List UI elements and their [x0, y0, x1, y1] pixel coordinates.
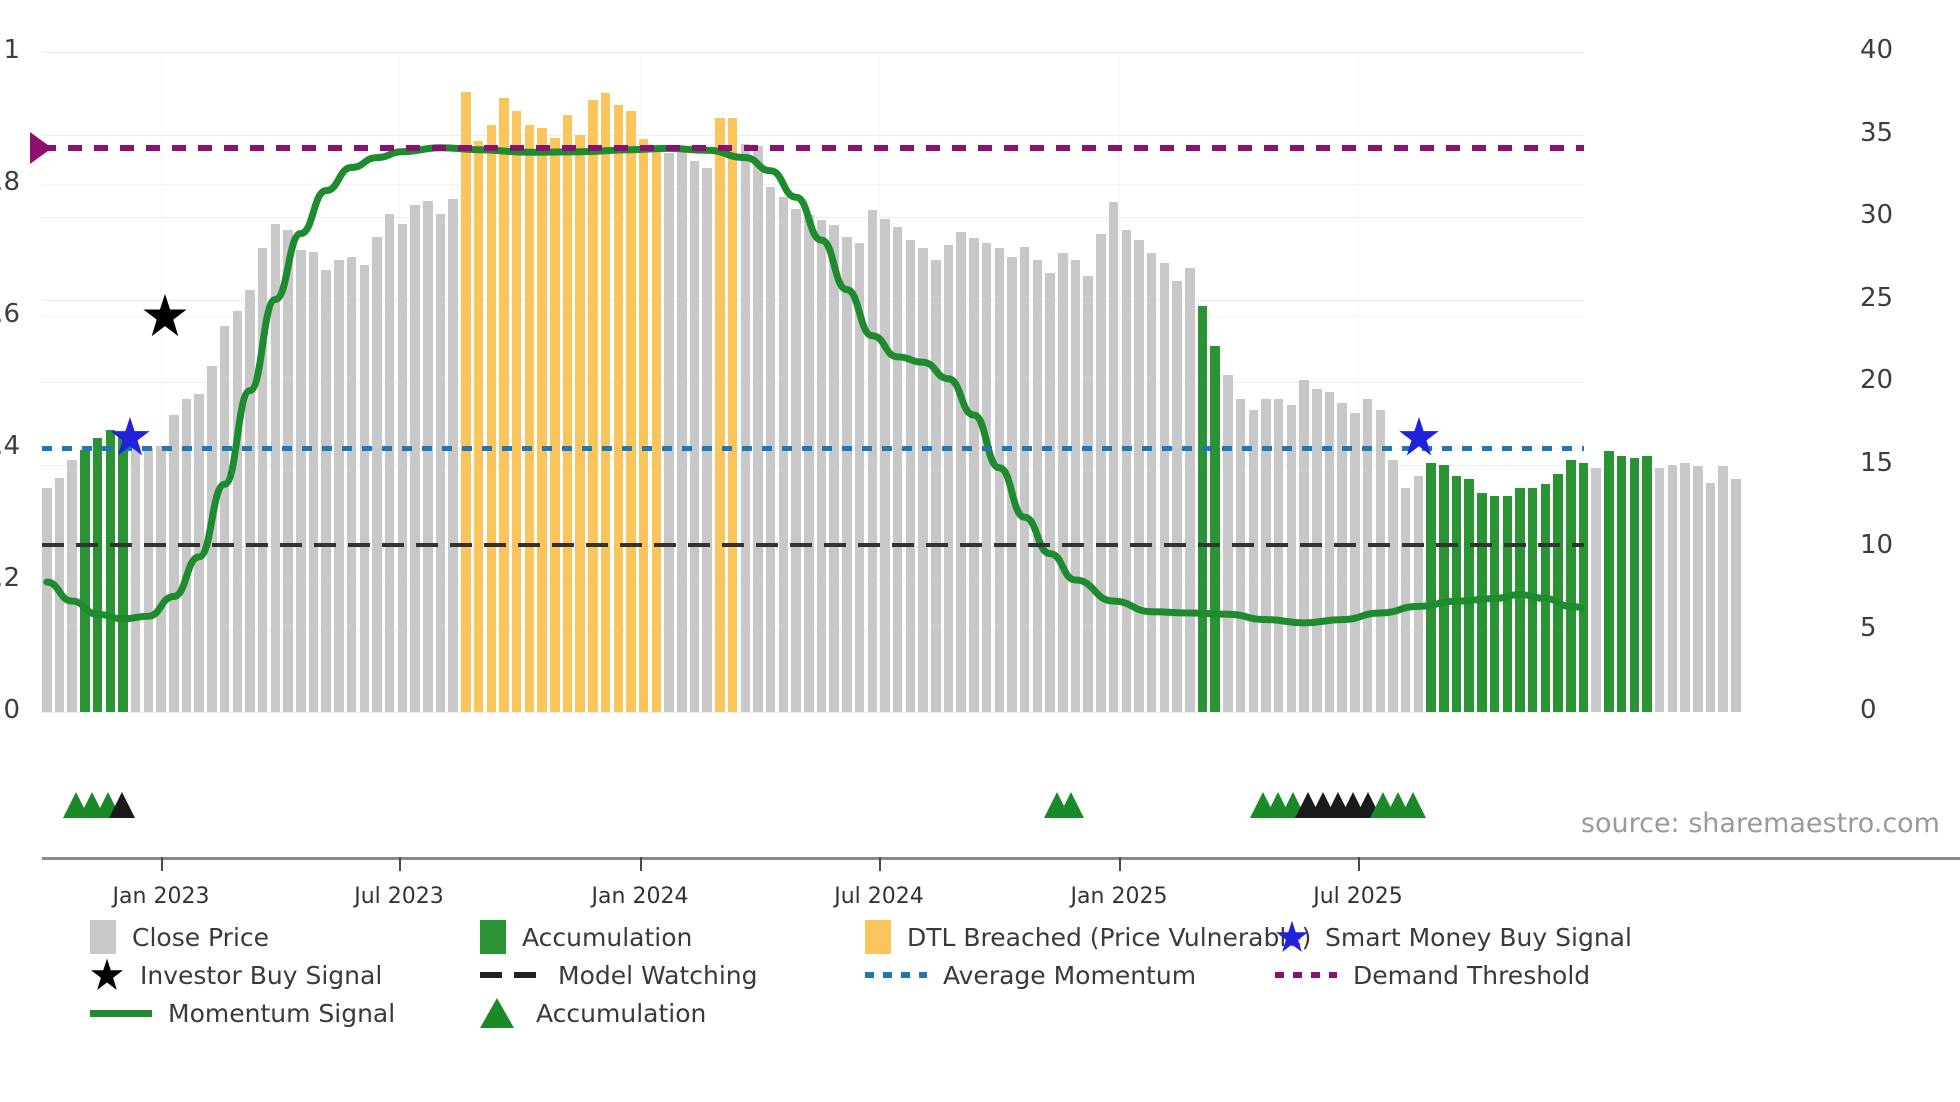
legend-label: Model Watching [558, 961, 758, 990]
price-bar [1325, 392, 1335, 712]
square-swatch-icon [90, 920, 116, 954]
price-bar [372, 237, 382, 712]
legend-smart-money-buy[interactable]: Smart Money Buy Signal [1275, 918, 1632, 956]
price-bar [588, 100, 598, 712]
legend-average-momentum[interactable]: Average Momentum [865, 956, 1196, 994]
legend-investor-buy[interactable]: Investor Buy Signal [90, 956, 382, 994]
price-bar [906, 240, 916, 712]
price-bar [1464, 479, 1474, 712]
legend-demand-threshold[interactable]: Demand Threshold [1275, 956, 1590, 994]
price-bar [715, 118, 725, 712]
price-bar [1414, 476, 1424, 712]
price-bar [436, 214, 446, 712]
legend-label: Close Price [132, 923, 269, 952]
gridline-right-40 [42, 52, 1584, 53]
price-bar [1249, 410, 1259, 712]
price-bar [575, 135, 585, 713]
y-axis-right-tick-25: 25 [1860, 283, 1930, 313]
gridline-left-0.8 [42, 184, 1584, 185]
price-bar [1388, 460, 1398, 712]
price-bar [499, 98, 509, 712]
price-bar [55, 478, 65, 712]
accumulation-triangle-icon [1058, 792, 1084, 818]
legend-label: Investor Buy Signal [140, 961, 382, 990]
star-icon [90, 958, 124, 992]
price-bar [1045, 273, 1055, 712]
chart-page: 00.20.40.60.81 0510152025303540 Jan 2023… [0, 0, 1960, 1102]
source-attribution: source: sharemaestro.com [1581, 808, 1940, 839]
price-bar [1668, 465, 1678, 713]
square-swatch-icon [865, 920, 891, 954]
price-bar [423, 201, 433, 713]
price-bar [1503, 496, 1513, 712]
price-bar [779, 197, 789, 712]
price-bar [347, 257, 357, 712]
price-bar [1439, 465, 1449, 713]
dotted-line-swatch-icon [1275, 972, 1337, 978]
price-bar [829, 225, 839, 712]
refline-model-watching [42, 543, 1584, 547]
price-bar [1426, 463, 1436, 712]
price-bar [1071, 260, 1081, 712]
y-axis-left-tick-1: 1 [0, 35, 20, 65]
gridline-right-0 [42, 712, 1584, 713]
y-axis-left-tick-0: 0 [0, 695, 20, 725]
price-bar [258, 248, 268, 712]
price-bar [1680, 463, 1690, 712]
legend-row: Close PriceAccumulationDTL Breached (Pri… [90, 918, 1950, 956]
price-bar [1160, 263, 1170, 712]
price-bar [461, 92, 471, 712]
x-axis-label-jan-2023: Jan 2023 [61, 884, 261, 909]
price-bar [512, 111, 522, 712]
accumulation-triangle-icon [109, 792, 135, 818]
price-bar [728, 118, 738, 712]
price-bar [525, 125, 535, 712]
x-axis-label-jan-2024: Jan 2024 [540, 884, 740, 909]
legend-accumulation-bar[interactable]: Accumulation [480, 918, 692, 956]
price-bar [334, 260, 344, 712]
x-axis-label-jul-2023: Jul 2023 [299, 884, 499, 909]
price-bar [753, 146, 763, 712]
price-bar [677, 148, 687, 712]
price-bar [1109, 202, 1119, 712]
price-bar [1706, 483, 1716, 712]
x-axis-line [42, 857, 1960, 860]
price-bar [1452, 476, 1462, 712]
price-bar [995, 248, 1005, 712]
y-axis-right-tick-35: 35 [1860, 118, 1930, 148]
price-bar [233, 311, 243, 712]
price-bar [1718, 466, 1728, 712]
price-bar [1350, 413, 1360, 712]
price-bar [296, 250, 306, 712]
price-bar [1541, 484, 1551, 712]
vgridline-4 [1119, 52, 1120, 712]
x-axis-tick [640, 857, 642, 871]
price-bar [1642, 456, 1652, 712]
price-bar [982, 243, 992, 712]
legend-momentum-signal[interactable]: Momentum Signal [90, 994, 395, 1032]
price-bar [1376, 410, 1386, 712]
price-bar [1490, 496, 1500, 712]
price-bar [893, 227, 903, 712]
price-bar [1185, 268, 1195, 712]
price-bar [1604, 451, 1614, 712]
price-bar [410, 205, 420, 712]
price-bar [842, 237, 852, 712]
x-axis-tick [1358, 857, 1360, 871]
y-axis-left-tick-0.2: 0.2 [0, 563, 20, 593]
star-icon [1275, 920, 1309, 954]
price-bar [639, 139, 649, 712]
price-bar [1515, 488, 1525, 712]
x-axis-tick [161, 857, 163, 871]
x-axis-tick [399, 857, 401, 871]
star-icon [142, 293, 188, 339]
price-bar [385, 214, 395, 712]
legend-close-price[interactable]: Close Price [90, 918, 269, 956]
price-bar [868, 210, 878, 712]
price-bar [614, 105, 624, 712]
legend-row: Investor Buy SignalModel WatchingAverage… [90, 956, 1950, 994]
investor-buy-signal-marker [142, 293, 188, 343]
price-bar [1134, 240, 1144, 712]
price-bar [1007, 257, 1017, 712]
x-axis-label-jan-2025: Jan 2025 [1019, 884, 1219, 909]
price-bar [1617, 456, 1627, 712]
demand-threshold-arrow-icon [30, 132, 52, 164]
price-bar [702, 168, 712, 713]
price-bar [474, 141, 484, 712]
price-bar [144, 448, 154, 712]
price-bar [1147, 253, 1157, 712]
y-axis-right-tick-30: 30 [1860, 200, 1930, 230]
price-bar [1096, 234, 1106, 713]
price-bar [1630, 458, 1640, 712]
y-axis-right-tick-0: 0 [1860, 695, 1930, 725]
price-bar [690, 161, 700, 712]
price-bar [944, 245, 954, 712]
legend-model-watching[interactable]: Model Watching [480, 956, 758, 994]
legend-label: Momentum Signal [168, 999, 395, 1028]
price-bar [1058, 253, 1068, 712]
plot-area [42, 52, 1584, 712]
price-bar [880, 219, 890, 712]
star-icon [109, 416, 151, 458]
price-bar [1312, 389, 1322, 712]
price-bar [156, 446, 166, 712]
price-bar [550, 138, 560, 712]
price-bar [1172, 281, 1182, 712]
price-bar [804, 215, 814, 712]
price-bar [537, 128, 547, 712]
price-bar [1401, 488, 1411, 712]
y-axis-right-tick-20: 20 [1860, 365, 1930, 395]
price-bar [245, 290, 255, 712]
price-bar [1731, 479, 1741, 712]
legend-label: Accumulation [536, 999, 706, 1028]
price-bar [1528, 488, 1538, 712]
legend-label: Average Momentum [943, 961, 1196, 990]
legend-dtl-breached[interactable]: DTL Breached (Price Vulnerable) [865, 918, 1311, 956]
y-axis-right-tick-40: 40 [1860, 35, 1930, 65]
price-bar [309, 252, 319, 712]
price-bar [1083, 276, 1093, 712]
legend-label: Demand Threshold [1353, 961, 1590, 990]
star-glyph [1275, 920, 1309, 954]
price-bar [1553, 474, 1563, 712]
price-bar [969, 238, 979, 712]
line-swatch-icon [90, 1010, 152, 1017]
legend-label: Accumulation [522, 923, 692, 952]
x-axis-label-jul-2024: Jul 2024 [779, 884, 979, 909]
legend-label: Smart Money Buy Signal [1325, 923, 1632, 952]
x-axis-label-jul-2025: Jul 2025 [1258, 884, 1458, 909]
price-bar [601, 93, 611, 712]
price-bar [956, 232, 966, 712]
price-bar [1198, 306, 1208, 712]
y-axis-right-tick-10: 10 [1860, 530, 1930, 560]
price-bar [80, 450, 90, 712]
price-bar [448, 199, 458, 712]
price-bar [817, 220, 827, 712]
price-bar [1693, 466, 1703, 712]
legend-row: Momentum SignalAccumulation [90, 994, 1950, 1032]
star-icon [1398, 416, 1440, 458]
price-bar [42, 488, 52, 712]
y-axis-left-tick-0.4: 0.4 [0, 431, 20, 461]
price-bar [220, 326, 230, 712]
refline-demand-threshold [42, 145, 1584, 151]
price-bar [1210, 346, 1220, 712]
price-bar [791, 209, 801, 712]
price-bar [626, 111, 636, 712]
price-bar [1033, 260, 1043, 712]
refline-average-momentum [42, 446, 1584, 451]
price-bar [93, 438, 103, 712]
price-bar [1655, 468, 1665, 712]
price-bar [67, 460, 77, 712]
price-bar [118, 432, 128, 713]
price-bar [1122, 230, 1132, 712]
accumulation-triangle-strip [42, 790, 1584, 818]
price-bar [169, 415, 179, 712]
x-axis-tick [1119, 857, 1121, 871]
price-bar [360, 265, 370, 712]
price-bar [1591, 468, 1601, 712]
gridline-right-35 [42, 135, 1584, 136]
smart-money-buy-signal-marker [1398, 416, 1440, 462]
accumulation-triangle-icon [1400, 792, 1426, 818]
price-bar [106, 430, 116, 712]
price-bar [918, 248, 928, 712]
price-bar [652, 146, 662, 712]
price-bar [664, 153, 674, 712]
y-axis-right-tick-15: 15 [1860, 448, 1930, 478]
price-bar [1477, 493, 1487, 712]
dotted-line-swatch-icon [865, 972, 927, 978]
price-bar [271, 224, 281, 712]
price-bar [131, 445, 141, 712]
price-bar [487, 125, 497, 712]
price-bar [207, 366, 217, 713]
square-swatch-icon [480, 920, 506, 954]
triangle-icon [480, 998, 514, 1028]
y-axis-right-tick-5: 5 [1860, 613, 1930, 643]
dashed-line-swatch-icon [480, 972, 542, 978]
chart-legend: Close PriceAccumulationDTL Breached (Pri… [90, 918, 1950, 1032]
price-bar [855, 243, 865, 712]
legend-label: DTL Breached (Price Vulnerable) [907, 923, 1311, 952]
price-bar [398, 224, 408, 712]
star-glyph [90, 958, 124, 992]
price-bar [321, 270, 331, 712]
price-bar [931, 260, 941, 712]
price-bar [563, 115, 573, 712]
y-axis-left-tick-0.8: 0.8 [0, 167, 20, 197]
price-bar [1566, 460, 1576, 712]
price-bar [283, 230, 293, 712]
x-axis-tick [879, 857, 881, 871]
price-bar [194, 394, 204, 712]
y-axis-left-tick-0.6: 0.6 [0, 299, 20, 329]
legend-accumulation-triangle[interactable]: Accumulation [480, 994, 706, 1032]
smart-money-buy-signal-marker [109, 416, 151, 462]
price-bar [1579, 463, 1589, 712]
price-bar [1020, 247, 1030, 712]
price-bar [741, 144, 751, 712]
